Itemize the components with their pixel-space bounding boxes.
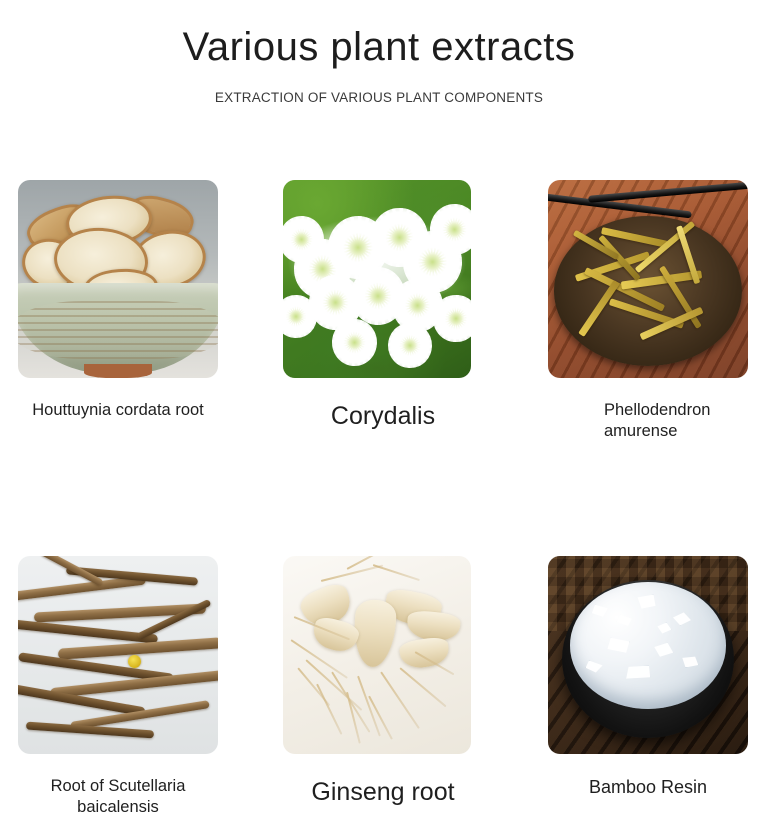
ginseng-tendril	[357, 676, 381, 737]
product-card-houttuynia-cordata-root[interactable]: Houttuynia cordata root	[18, 180, 218, 421]
product-image-root-of-scutellaria-baicalensis	[18, 556, 218, 754]
ginseng-root-body	[398, 636, 450, 670]
product-card-corydalis[interactable]: Corydalis	[283, 180, 483, 432]
product-image-ginseng-root	[283, 556, 471, 754]
product-card-root-of-scutellaria-baicalensis[interactable]: Root of Scutellaria baicalensis	[18, 556, 218, 818]
resin-crystal	[592, 605, 608, 617]
flower-umbel	[388, 323, 431, 369]
resin-crystals	[570, 582, 726, 709]
product-card-phellodendron-amurense[interactable]: Phellodendron amurense	[548, 180, 748, 442]
resin-crystal	[626, 666, 650, 679]
product-grid-row-2: Root of Scutellaria baicalensis	[0, 556, 758, 818]
resin-crystal	[657, 623, 671, 634]
product-caption-houttuynia-cordata-root: Houttuynia cordata root	[18, 400, 218, 421]
resin-crystal	[607, 638, 629, 653]
flower-umbel	[332, 319, 377, 367]
flower-umbel	[433, 295, 471, 343]
product-caption-ginseng-root: Ginseng root	[283, 776, 483, 808]
product-image-corydalis	[283, 180, 471, 378]
caption-line-2: amurense	[604, 421, 748, 442]
product-caption-bamboo-resin: Bamboo Resin	[548, 776, 748, 799]
page-title: Various plant extracts	[0, 24, 758, 70]
bark-strip-pile	[564, 224, 732, 355]
ceramic-bowl	[18, 283, 218, 374]
product-image-phellodendron-amurense	[548, 180, 748, 378]
resin-crystal	[673, 612, 691, 625]
ginseng-tendril	[297, 667, 330, 706]
plant-extracts-poster: Various plant extracts EXTRACTION OF VAR…	[0, 0, 758, 760]
root-cut-end	[128, 655, 141, 668]
product-grid: Houttuynia cordata root	[0, 180, 758, 818]
resin-crystal	[636, 595, 656, 609]
resin-crystal	[682, 655, 698, 667]
bark-strip	[579, 280, 620, 337]
product-card-bamboo-resin[interactable]: Bamboo Resin	[548, 556, 748, 799]
product-image-bamboo-resin	[548, 556, 748, 754]
resin-crystal	[586, 661, 603, 673]
caption-line-1: Phellodendron	[604, 400, 748, 421]
bowl-foot	[84, 364, 152, 378]
poster-header: Various plant extracts EXTRACTION OF VAR…	[0, 0, 758, 105]
product-image-houttuynia-cordata-root	[18, 180, 218, 378]
ginseng-tendril	[399, 667, 446, 707]
dried-root	[18, 620, 158, 644]
product-grid-row-1: Houttuynia cordata root	[0, 180, 758, 442]
product-caption-phellodendron-amurense: Phellodendron amurense	[548, 400, 748, 442]
product-caption-root-of-scutellaria-baicalensis: Root of Scutellaria baicalensis	[18, 776, 218, 818]
product-card-ginseng-root[interactable]: Ginseng root	[283, 556, 483, 808]
product-caption-corydalis: Corydalis	[283, 400, 483, 432]
resin-crystal	[617, 615, 632, 626]
resin-crystal	[654, 643, 673, 657]
page-subtitle: EXTRACTION OF VARIOUS PLANT COMPONENTS	[0, 90, 758, 105]
